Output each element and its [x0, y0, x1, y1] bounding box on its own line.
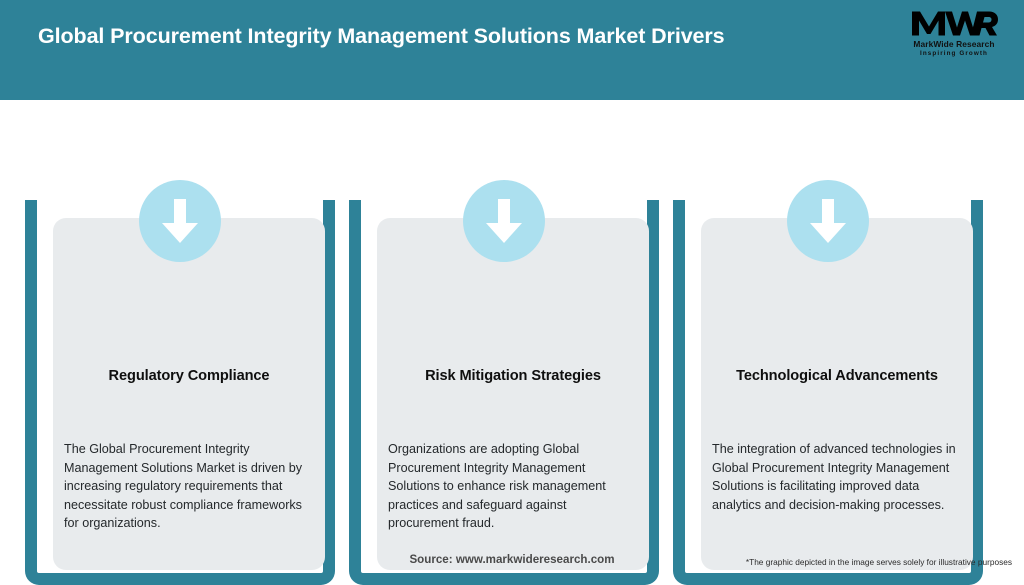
page-title: Global Procurement Integrity Management …: [38, 24, 725, 49]
down-arrow-icon: [787, 180, 869, 262]
card-body-text: Organizations are adopting Global Procur…: [388, 440, 638, 533]
driver-card-3[interactable]: Technological Advancements The integrati…: [673, 140, 983, 546]
card-panel: Risk Mitigation Strategies Organizations…: [377, 218, 649, 570]
logo-tagline: Inspiring Growth: [902, 50, 1006, 57]
card-body-text: The integration of advanced technologies…: [712, 440, 962, 514]
card-panel: Technological Advancements The integrati…: [701, 218, 973, 570]
card-title: Risk Mitigation Strategies: [387, 368, 639, 384]
card-title: Technological Advancements: [711, 368, 963, 384]
down-arrow-icon: [463, 180, 545, 262]
logo-company-name: MarkWide Research: [902, 39, 1006, 49]
down-arrow-icon: [139, 180, 221, 262]
header-bar: Global Procurement Integrity Management …: [0, 0, 1024, 100]
down-arrow-glyph: [160, 197, 200, 245]
card-title: Regulatory Compliance: [63, 368, 315, 384]
down-arrow-glyph: [484, 197, 524, 245]
disclaimer-note: *The graphic depicted in the image serve…: [746, 557, 1012, 567]
driver-card-1[interactable]: Regulatory Compliance The Global Procure…: [25, 140, 335, 546]
mwr-logo-icon: [910, 8, 998, 38]
card-body-text: The Global Procurement Integrity Managem…: [64, 440, 314, 533]
drivers-card-row: Regulatory Compliance The Global Procure…: [0, 100, 1024, 546]
brand-logo: MarkWide Research Inspiring Growth: [902, 8, 1006, 64]
driver-card-2[interactable]: Risk Mitigation Strategies Organizations…: [349, 140, 659, 546]
card-panel: Regulatory Compliance The Global Procure…: [53, 218, 325, 570]
down-arrow-glyph: [808, 197, 848, 245]
